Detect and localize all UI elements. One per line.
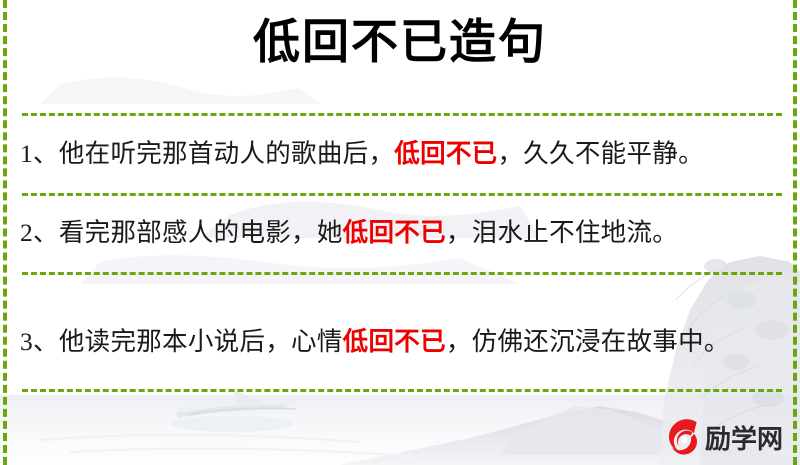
sentence-list: 1、他在听完那首动人的歌曲后，低回不已，久久不能平静。 2、看完那部感人的电影，… [0, 113, 800, 389]
sentence-1: 1、他在听完那首动人的歌曲后，低回不已，久久不能平静。 [20, 132, 704, 175]
divider-above-sentence-1 [22, 113, 782, 116]
divider-above-sentence-2 [22, 193, 782, 196]
list-item: 2、看完那部感人的电影，她低回不已，泪水止不住地流。 [0, 193, 800, 272]
sentence-2: 2、看完那部感人的电影，她低回不已，泪水止不住地流。 [20, 211, 678, 254]
site-logo[interactable]: 励学网 [661, 414, 795, 460]
sentence-3-index: 3、 [20, 327, 59, 356]
page-title: 低回不已造句 [0, 14, 800, 73]
divider-above-sentence-3 [22, 272, 782, 275]
sentence-1-after: ，久久不能平静。 [497, 139, 703, 168]
sentence-1-index: 1、 [20, 139, 59, 168]
sentence-1-highlight: 低回不已 [394, 139, 497, 168]
sentence-3: 3、他读完那本小说后，心情低回不已，仿佛还沉浸在故事中。 [20, 320, 730, 363]
sentence-1-before: 他在听完那首动人的歌曲后， [59, 139, 394, 168]
list-item: 1、他在听完那首动人的歌曲后，低回不已，久久不能平静。 [0, 113, 800, 193]
list-item: 3、他读完那本小说后，心情低回不已，仿佛还沉浸在故事中。 [0, 272, 800, 389]
frame-edge-left [3, 0, 7, 465]
frame-edge-right [793, 0, 797, 465]
sentence-2-before: 看完那部感人的电影，她 [59, 218, 343, 247]
page-root: 低回不已造句 1、他在听完那首动人的歌曲后，低回不已，久久不能平静。 2、看完那… [0, 0, 800, 465]
site-logo-text: 励学网 [705, 419, 783, 456]
sentence-3-highlight: 低回不已 [343, 327, 446, 356]
sentence-2-after: ，泪水止不住地流。 [446, 218, 678, 247]
sentence-3-before: 他读完那本小说后，心情 [59, 327, 343, 356]
sentence-2-index: 2、 [20, 218, 59, 247]
sentence-3-after: ，仿佛还沉浸在故事中。 [446, 327, 730, 356]
divider-below-sentence-3 [22, 389, 782, 392]
sentence-2-highlight: 低回不已 [343, 218, 446, 247]
red-swirl-flame-icon [661, 416, 703, 458]
